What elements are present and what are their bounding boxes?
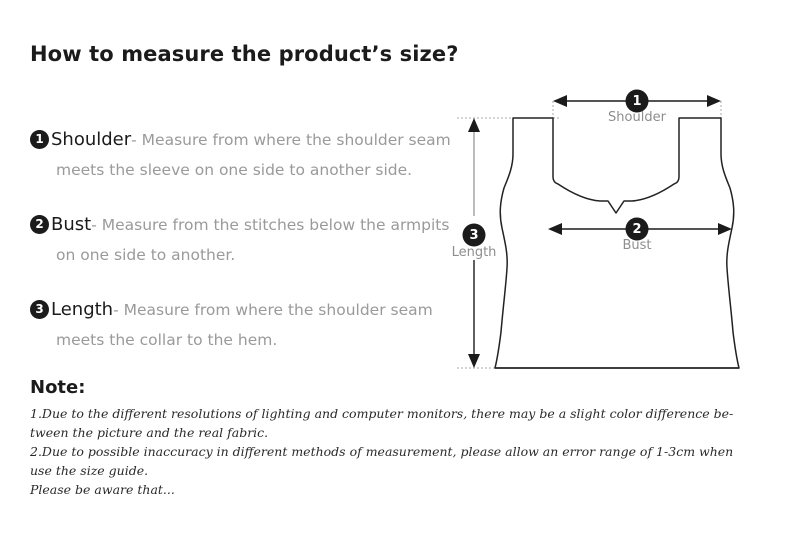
measurement-line-1: 1Shoulder- Measure from where the should… bbox=[30, 125, 460, 155]
note-line: tween the picture and the real fabric. bbox=[30, 423, 775, 442]
measurement-desc-shoulder-2: meets the sleeve on one side to another … bbox=[56, 155, 460, 185]
shoulder-label: Shoulder bbox=[608, 110, 667, 125]
note-line: Please be aware that... bbox=[30, 480, 775, 499]
note-line: use the size guide. bbox=[30, 461, 775, 480]
tank-top-svg: 1 Shoulder 2 Bust 3 Length bbox=[440, 80, 780, 380]
measurement-term-length: Length bbox=[51, 299, 113, 320]
measurement-term-shoulder: Shoulder bbox=[51, 129, 131, 150]
measurement-line-2: 2Bust- Measure from the stitches below t… bbox=[30, 210, 460, 240]
list-item: 3Length- Measure from where the shoulder… bbox=[30, 295, 460, 355]
list-badge-2: 2 bbox=[30, 215, 49, 234]
measurement-desc-bust-1: - Measure from the stitches below the ar… bbox=[91, 216, 449, 234]
note-line: 1.Due to the different resolutions of li… bbox=[30, 404, 775, 423]
size-guide-page: How to measure the product’s size? 1Shou… bbox=[0, 0, 790, 550]
measurement-desc-length-1: - Measure from where the shoulder seam bbox=[113, 301, 433, 319]
note-line: 2.Due to possible inaccuracy in differen… bbox=[30, 442, 775, 461]
measurement-desc-length-2: meets the collar to the hem. bbox=[56, 325, 460, 355]
tank-top-outline bbox=[495, 118, 739, 368]
length-badge-number: 3 bbox=[469, 228, 478, 243]
shoulder-badge-number: 1 bbox=[632, 94, 641, 109]
measurement-desc-bust-2: on one side to another. bbox=[56, 240, 460, 270]
measurement-list: 1Shoulder- Measure from where the should… bbox=[30, 125, 460, 380]
page-title: How to measure the product’s size? bbox=[30, 42, 459, 66]
bust-label: Bust bbox=[622, 238, 651, 253]
garment-diagram: 1 Shoulder 2 Bust 3 Length bbox=[440, 80, 780, 380]
list-badge-3: 3 bbox=[30, 300, 49, 319]
measurement-line-3: 3Length- Measure from where the shoulder… bbox=[30, 295, 460, 325]
length-label: Length bbox=[452, 245, 497, 260]
measurement-term-bust: Bust bbox=[51, 214, 91, 235]
note-body: 1.Due to the different resolutions of li… bbox=[30, 404, 775, 499]
list-badge-1: 1 bbox=[30, 130, 49, 149]
list-item: 2Bust- Measure from the stitches below t… bbox=[30, 210, 460, 270]
bust-badge-number: 2 bbox=[632, 222, 641, 237]
note-heading: Note: bbox=[30, 377, 85, 398]
list-item: 1Shoulder- Measure from where the should… bbox=[30, 125, 460, 185]
measurement-desc-shoulder-1: - Measure from where the shoulder seam bbox=[131, 131, 451, 149]
guide-lines bbox=[457, 101, 721, 368]
